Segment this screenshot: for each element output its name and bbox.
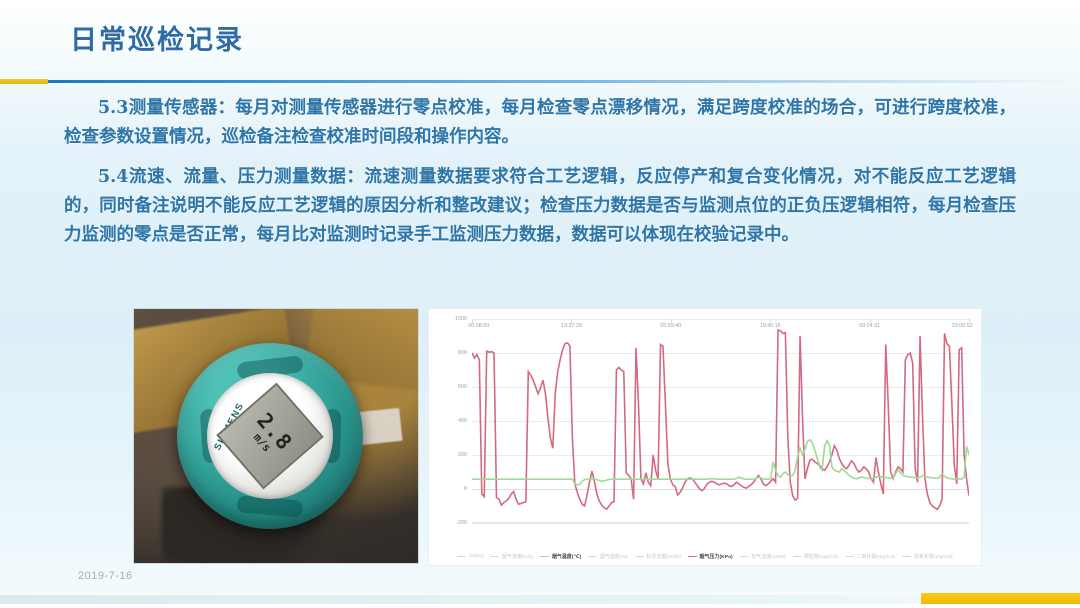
chart-y-tick-label: 1000 xyxy=(455,316,467,322)
chart-x-tick-label: 19:40:16 xyxy=(760,323,781,329)
chart-series-layer xyxy=(472,319,969,523)
legend-label: 烟气湿度(%) xyxy=(600,553,628,560)
legend-swatch-icon xyxy=(457,556,466,558)
body-text-block: 5.3测量传感器：每月对测量传感器进行零点校准，每月检查零点漂移情况，满足跨度校… xyxy=(64,94,1016,261)
chart-legend-item[interactable]: 烟气压力(KPa) xyxy=(688,553,733,560)
legend-label: 烟气流速(m/s) xyxy=(502,553,534,560)
paragraph-5-3: 5.3测量传感器：每月对测量传感器进行零点校准，每月检查零点漂移情况，满足跨度校… xyxy=(64,94,1016,152)
chart-legend-item[interactable]: 氮氧化物(mg/m3) xyxy=(902,553,952,560)
chart-plot-area: 10008006004002000-200 00:08:0013:37:2905… xyxy=(472,319,969,523)
monitoring-chart: 10008006004002000-200 00:08:0013:37:2905… xyxy=(428,308,982,566)
header-accent-gold xyxy=(0,79,48,84)
header-accent-blue xyxy=(48,80,1080,83)
chart-legend-item[interactable]: 二氧化硫(mg/m3) xyxy=(845,553,895,560)
device-lcd-text: 2.8 m/s xyxy=(244,410,296,463)
chart-x-tick-label: 09:24:31 xyxy=(859,323,880,329)
chart-legend-item[interactable]: 烟气湿度(%) xyxy=(588,553,627,560)
paragraph-5-4: 5.4流速、流量、压力测量数据：流速测量数据要求符合工艺逻辑，反应停产和复合变化… xyxy=(64,163,1016,250)
legend-swatch-icon xyxy=(588,556,597,558)
chart-y-tick-label: 800 xyxy=(458,350,467,356)
footer-edge xyxy=(0,604,1080,608)
slide-root: 日常巡检记录 5.3测量传感器：每月对测量传感器进行零点校准，每月检查零点漂移情… xyxy=(0,0,1080,608)
chart-legend-item[interactable]: 颗粒物(mg/m3) xyxy=(793,553,838,560)
chart-x-tick-label: 05:59:40 xyxy=(660,323,681,329)
chart-x-tick-label: 13:37:29 xyxy=(561,323,582,329)
chart-y-tick-label: 400 xyxy=(458,418,467,424)
chart-legend-item[interactable]: 标气流速(m3/s) xyxy=(740,553,786,560)
chart-x-tick-label: 23:00:52 xyxy=(952,323,973,329)
chart-y-tick-label: 600 xyxy=(458,384,467,390)
legend-label: 烟气压力(KPa) xyxy=(699,553,732,560)
legend-swatch-icon xyxy=(635,556,644,558)
legend-swatch-icon xyxy=(902,556,911,558)
legend-swatch-icon xyxy=(490,556,499,558)
legend-swatch-icon xyxy=(793,556,802,558)
chart-series-line xyxy=(472,440,969,485)
chart-legend-item[interactable]: 烟气流速(m/s) xyxy=(490,553,533,560)
chart-x-axis xyxy=(472,522,969,523)
chart-y-tick-label: 0 xyxy=(464,486,467,492)
siemens-transmitter: SIEMENS 2.8 m/s xyxy=(177,343,363,529)
legend-swatch-icon xyxy=(845,556,854,558)
chart-legend-item[interactable]: O2(%) xyxy=(457,554,483,559)
legend-label: 标气流速(m3/s) xyxy=(751,553,785,560)
header-divider xyxy=(0,79,1080,84)
legend-label: 二氧化硫(mg/m3) xyxy=(857,553,896,560)
legend-label: 颗粒物(mg/m3) xyxy=(804,553,838,560)
footer-bar xyxy=(0,595,1080,604)
chart-gridline: -200 xyxy=(472,523,969,524)
chart-y-tick-label: 200 xyxy=(458,452,467,458)
legend-label: 标况流量(m3/h) xyxy=(646,553,681,560)
footer-accent-gold xyxy=(921,593,1080,604)
chart-y-tick-label: -200 xyxy=(456,520,467,526)
chart-x-tick-label: 00:08:00 xyxy=(468,323,489,329)
sensor-photo: SIEMENS 2.8 m/s xyxy=(133,308,419,564)
legend-label: 氮氧化物(mg/m3) xyxy=(914,553,953,560)
legend-swatch-icon xyxy=(740,556,749,558)
chart-series-line xyxy=(472,330,969,509)
legend-swatch-icon xyxy=(540,556,549,558)
chart-legend-item[interactable]: 烟气温度(℃) xyxy=(540,553,581,560)
footer-date: 2019-7-16 xyxy=(78,570,133,582)
chart-legend-item[interactable]: 标况流量(m3/h) xyxy=(635,553,681,560)
legend-label: 烟气温度(℃) xyxy=(552,553,581,560)
chart-legend[interactable]: O2(%)烟气流速(m/s)烟气温度(℃)烟气湿度(%)标况流量(m3/h)烟气… xyxy=(429,553,981,560)
legend-swatch-icon xyxy=(688,556,697,558)
legend-label: O2(%) xyxy=(469,554,484,559)
page-title: 日常巡检记录 xyxy=(70,18,244,57)
